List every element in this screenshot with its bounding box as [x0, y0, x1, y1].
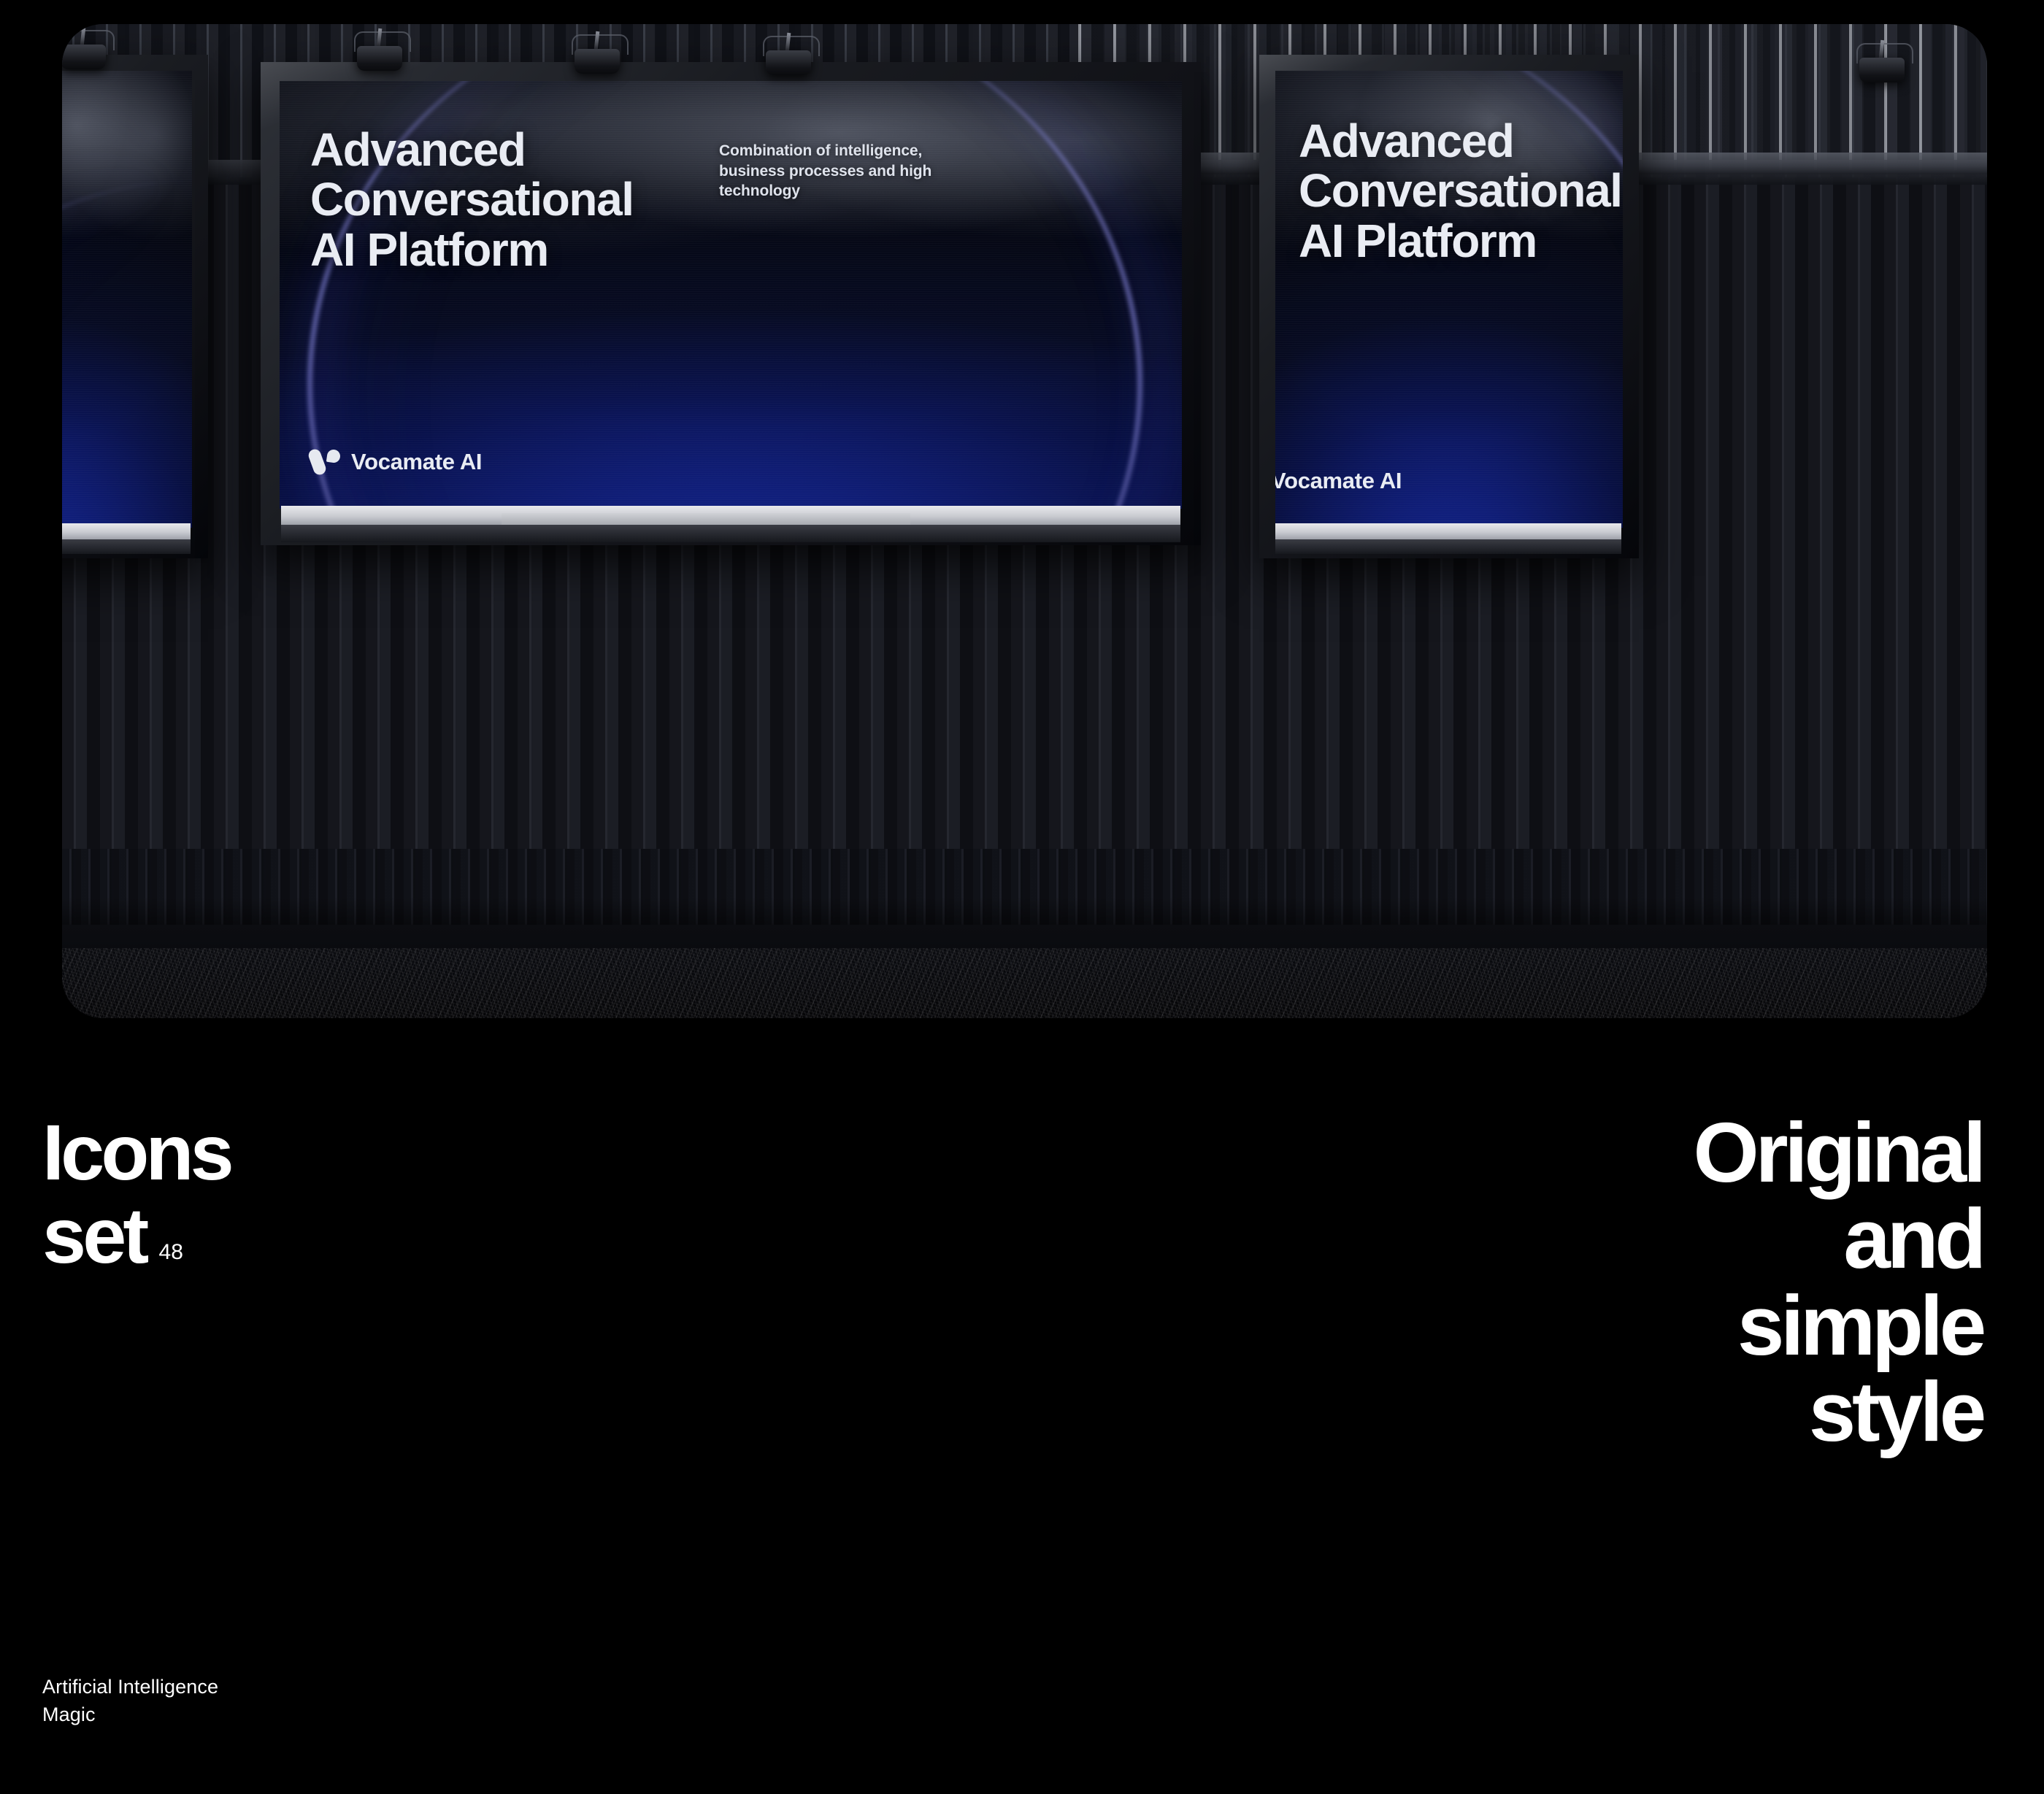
- billboard-left-partial: Combination of intelligence, business pr…: [62, 55, 208, 558]
- poster-subcopy: Combination of intelligence, business pr…: [719, 141, 1004, 201]
- logo-wordmark: Vocamate AI: [1275, 468, 1402, 494]
- headline-line-3: simple: [961, 1282, 1983, 1368]
- poster-subcopy: Combination of intelligence, business pr…: [62, 132, 139, 193]
- spotlight-fixture-5: [1849, 43, 1919, 87]
- icons-set-heading: Icons set 48: [42, 1113, 699, 1275]
- vocamate-v-mark-icon: [310, 447, 341, 477]
- icons-set-line2-row: set 48: [42, 1196, 699, 1275]
- billboard-scene: Combination of intelligence, business pr…: [62, 24, 1987, 1018]
- poster-artwork: Advanced Conversational AI Platform Voca…: [1275, 71, 1623, 528]
- spotlight-fixture-3: [564, 34, 634, 78]
- poster-logo-lockup: Vocamate AI: [1275, 466, 1402, 496]
- icons-set-count: 48: [159, 1241, 183, 1275]
- icons-set-line2: set: [42, 1196, 146, 1275]
- billboard-right-partial: Advanced Conversational AI Platform Voca…: [1259, 55, 1639, 558]
- original-simple-style-heading: Original and simple style: [961, 1109, 1983, 1455]
- headline-line-1: Original: [961, 1109, 1983, 1196]
- poster-sill-shade: [281, 525, 1180, 542]
- spotlight-fixture-4: [756, 36, 826, 80]
- poster-logo-lockup: Vocamate AI: [310, 447, 482, 477]
- poster-sill-shade: [62, 539, 191, 554]
- poster-artwork: Combination of intelligence, business pr…: [62, 71, 192, 528]
- spotlight-fixture-1: [62, 30, 120, 74]
- headline-line-4: style: [961, 1368, 1983, 1455]
- headline-line-2: and: [961, 1196, 1983, 1282]
- poster-headline: Advanced Conversational AI Platform: [1299, 116, 1623, 266]
- lamp-head: [62, 45, 106, 69]
- arc-glow-outer: [62, 180, 192, 528]
- floor-gravel-texture: [62, 948, 1987, 1018]
- poster-sill: [62, 523, 191, 539]
- icons-set-line1: Icons: [42, 1113, 699, 1192]
- lamp-head: [575, 49, 620, 74]
- lamp-head: [1859, 58, 1905, 82]
- arc-light-line: [62, 180, 192, 528]
- lamp-head: [766, 50, 811, 75]
- footer-caption: Artificial Intelligence Magic: [42, 1673, 218, 1729]
- poster-sill: [1275, 523, 1621, 539]
- logo-wordmark: Vocamate AI: [351, 449, 482, 475]
- lamp-head: [357, 46, 402, 71]
- poster-artwork: Advanced Conversational AI Platform Comb…: [280, 81, 1182, 509]
- billboard-center-main: Advanced Conversational AI Platform Comb…: [261, 62, 1201, 545]
- poster-sill-shade: [1275, 539, 1621, 554]
- spotlight-fixture-2: [347, 31, 417, 75]
- arc-glow-inner: [62, 180, 192, 528]
